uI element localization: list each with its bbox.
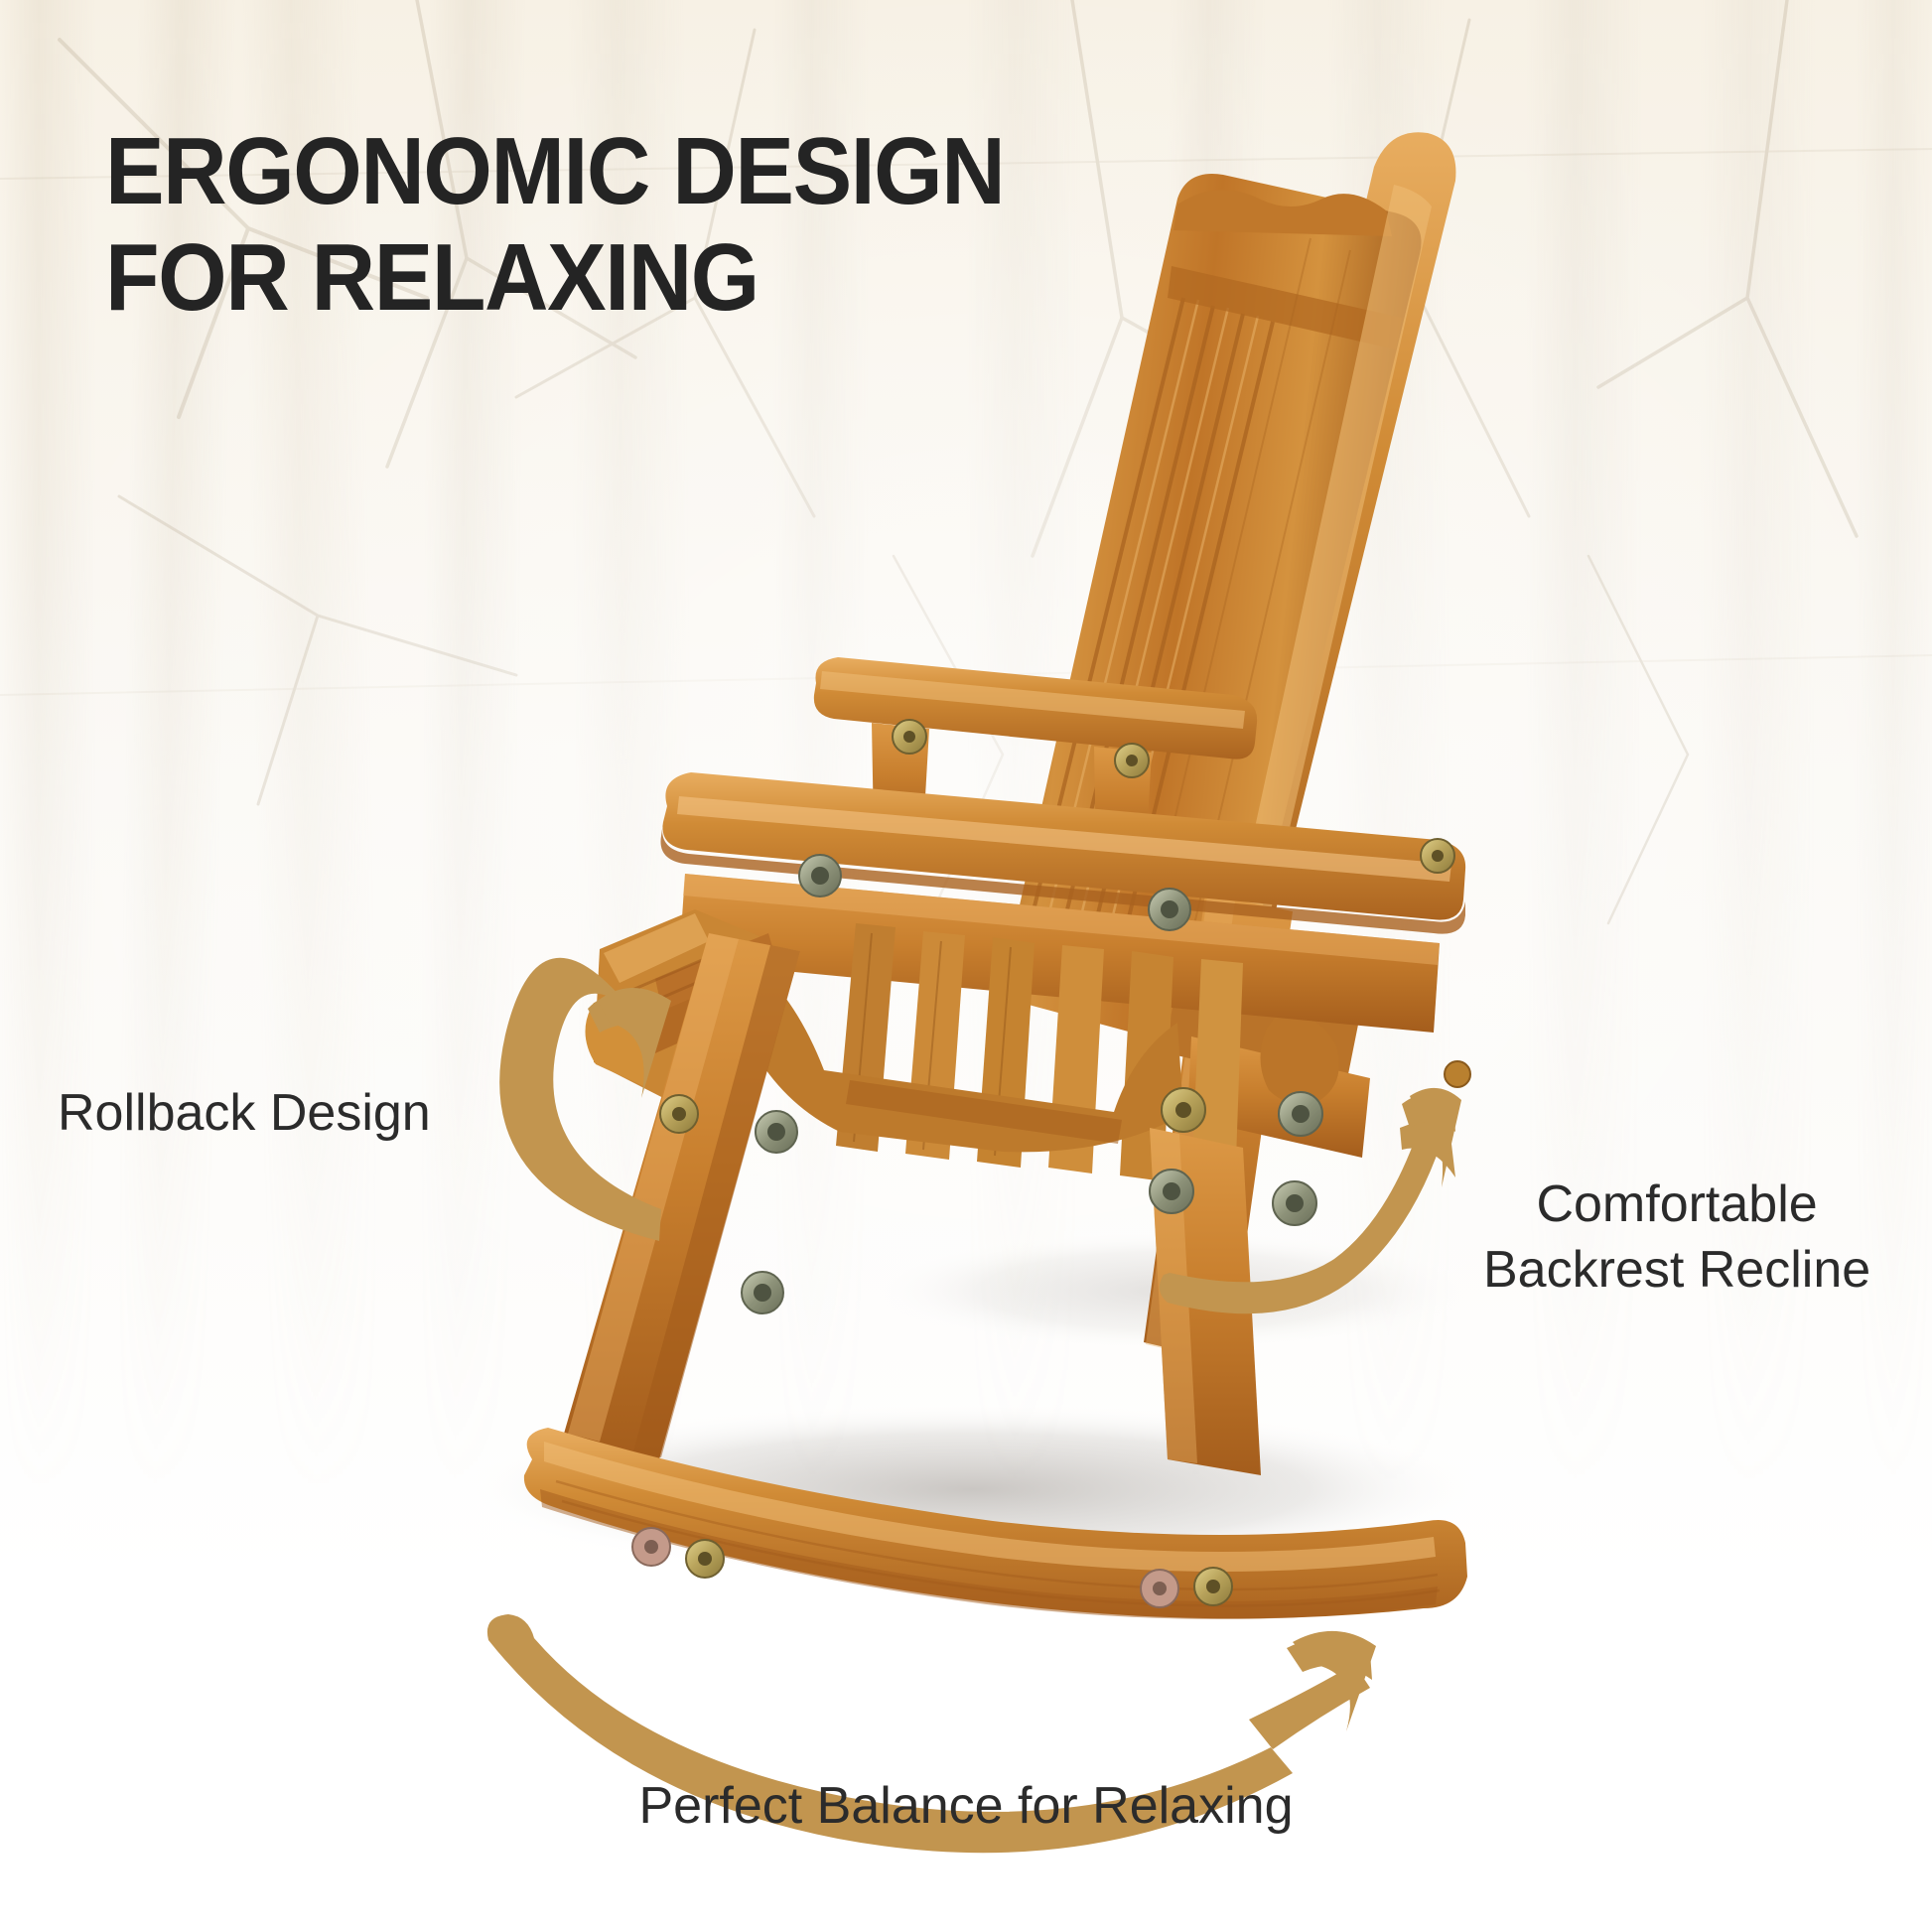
label-rollback-design: Rollback Design	[58, 1080, 431, 1146]
label-backrest-line-1: Comfortable	[1483, 1172, 1870, 1237]
headline-line-2: FOR RELAXING	[105, 225, 1029, 332]
label-perfect-balance: Perfect Balance for Relaxing	[0, 1773, 1932, 1839]
label-backrest-line-2: Backrest Recline	[1483, 1237, 1870, 1303]
label-backrest-recline: Comfortable Backrest Recline	[1483, 1172, 1870, 1303]
headline: ERGONOMIC DESIGN FOR RELAXING	[105, 119, 1098, 331]
headline-line-1: ERGONOMIC DESIGN	[105, 119, 1029, 225]
infographic-canvas: ERGONOMIC DESIGN FOR RELAXING Rollback D…	[0, 0, 1932, 1932]
